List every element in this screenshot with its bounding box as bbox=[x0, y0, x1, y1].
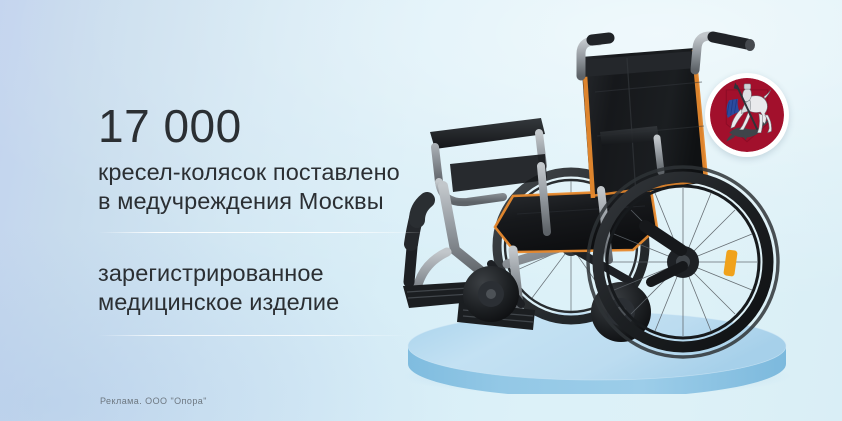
headline-number: 17 000 bbox=[98, 100, 468, 152]
caster-wheel-near bbox=[463, 266, 519, 322]
divider-1 bbox=[98, 232, 428, 233]
moscow-coat-of-arms-badge bbox=[705, 73, 789, 157]
text-column: 17 000 кресел-колясок поставлено в медуч… bbox=[98, 100, 468, 336]
advertising-banner: 17 000 кресел-колясок поставлено в медуч… bbox=[0, 0, 842, 421]
divider-2 bbox=[98, 335, 408, 336]
rear-wheel-near bbox=[588, 167, 778, 357]
headline-subtitle-line-2: в медучреждения Москвы bbox=[98, 187, 468, 216]
claim-text: зарегистрированное медицинское изделие bbox=[98, 259, 468, 317]
moscow-coat-of-arms-icon bbox=[710, 78, 784, 152]
legal-fineprint: Реклама. ООО "Опора" bbox=[100, 396, 207, 406]
claim-line-1: зарегистрированное bbox=[98, 259, 468, 288]
claim-line-2: медицинское изделие bbox=[98, 288, 468, 317]
headline-subtitle-line-1: кресел-колясок поставлено bbox=[98, 158, 468, 187]
wheel-reflector bbox=[723, 249, 738, 276]
headline-subtitle: кресел-колясок поставлено в медучреждени… bbox=[98, 158, 468, 216]
